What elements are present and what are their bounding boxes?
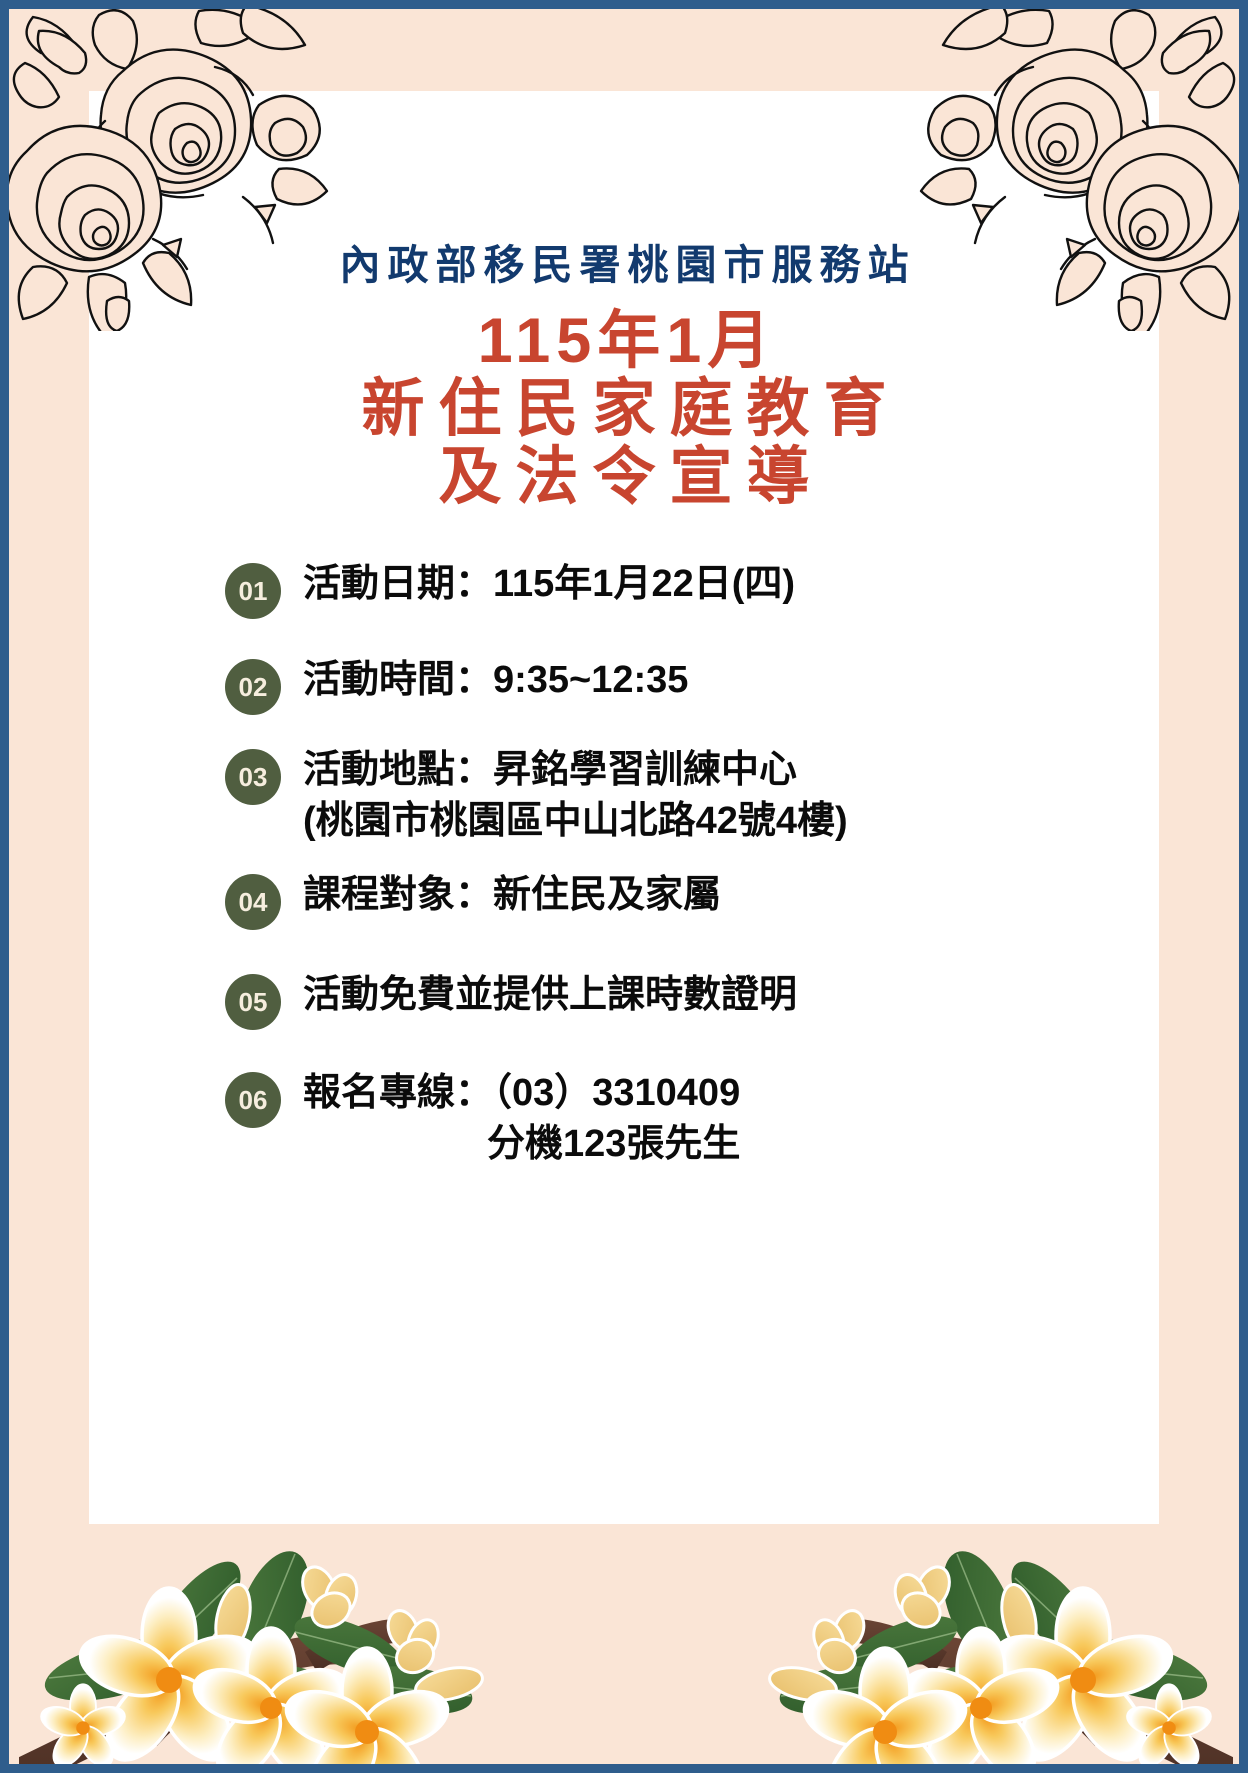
list-item: 01 活動日期：115年1月22日(四) <box>225 559 1179 619</box>
item-text: 活動時間：9:35~12:35 <box>303 655 688 706</box>
item-line-2: (桃園市桃園區中山北路42號4樓) <box>303 796 848 847</box>
list-item: 03 活動地點：昇銘學習訓練中心 (桃園市桃園區中山北路42號4樓) <box>225 745 1179 846</box>
poster-content: 內政部移民署桃園市服務站 115年1月 新住民家庭教育 及法令宣導 01 活動日… <box>9 9 1239 1169</box>
item-text: 活動免費並提供上課時數證明 <box>303 970 797 1021</box>
list-item: 04 課程對象：新住民及家屬 <box>225 870 1179 930</box>
main-title: 115年1月 新住民家庭教育 及法令宣導 <box>9 307 1239 511</box>
item-line-1: 報名專線：（03）3310409 <box>303 1072 740 1114</box>
item-line-1: 活動免費並提供上課時數證明 <box>303 974 797 1016</box>
organization-title: 內政部移民署桃園市服務站 <box>9 231 1239 291</box>
item-line-2: 分機123張先生 <box>303 1119 740 1170</box>
item-text: 活動地點：昇銘學習訓練中心 (桃園市桃園區中山北路42號4樓) <box>303 745 848 846</box>
item-number-badge: 03 <box>225 749 281 805</box>
list-item: 02 活動時間：9:35~12:35 <box>225 655 1179 715</box>
item-text: 課程對象：新住民及家屬 <box>303 870 721 921</box>
main-title-line-1: 115年1月 <box>9 307 1239 375</box>
item-number-badge: 06 <box>225 1072 281 1128</box>
main-title-line-3: 及法令宣導 <box>9 443 1239 511</box>
list-item: 05 活動免費並提供上課時數證明 <box>225 970 1179 1030</box>
list-item: 06 報名專線：（03）3310409 分機123張先生 <box>225 1068 1179 1169</box>
poster-inner: 內政部移民署桃園市服務站 115年1月 新住民家庭教育 及法令宣導 01 活動日… <box>9 9 1239 1764</box>
poster: 內政部移民署桃園市服務站 115年1月 新住民家庭教育 及法令宣導 01 活動日… <box>0 0 1248 1773</box>
item-line-1: 活動地點：昇銘學習訓練中心 <box>303 749 797 791</box>
item-number-badge: 04 <box>225 874 281 930</box>
item-text: 活動日期：115年1月22日(四) <box>303 559 795 610</box>
item-number-badge: 05 <box>225 974 281 1030</box>
main-title-line-2: 新住民家庭教育 <box>9 375 1239 443</box>
item-line-1: 活動日期：115年1月22日(四) <box>303 563 795 605</box>
info-list: 01 活動日期：115年1月22日(四) 02 活動時間：9:35~12:35 … <box>9 559 1239 1169</box>
item-line-1: 活動時間：9:35~12:35 <box>303 659 688 701</box>
item-text: 報名專線：（03）3310409 分機123張先生 <box>303 1068 740 1169</box>
item-number-badge: 01 <box>225 563 281 619</box>
item-line-1: 課程對象：新住民及家屬 <box>303 874 721 916</box>
item-number-badge: 02 <box>225 659 281 715</box>
